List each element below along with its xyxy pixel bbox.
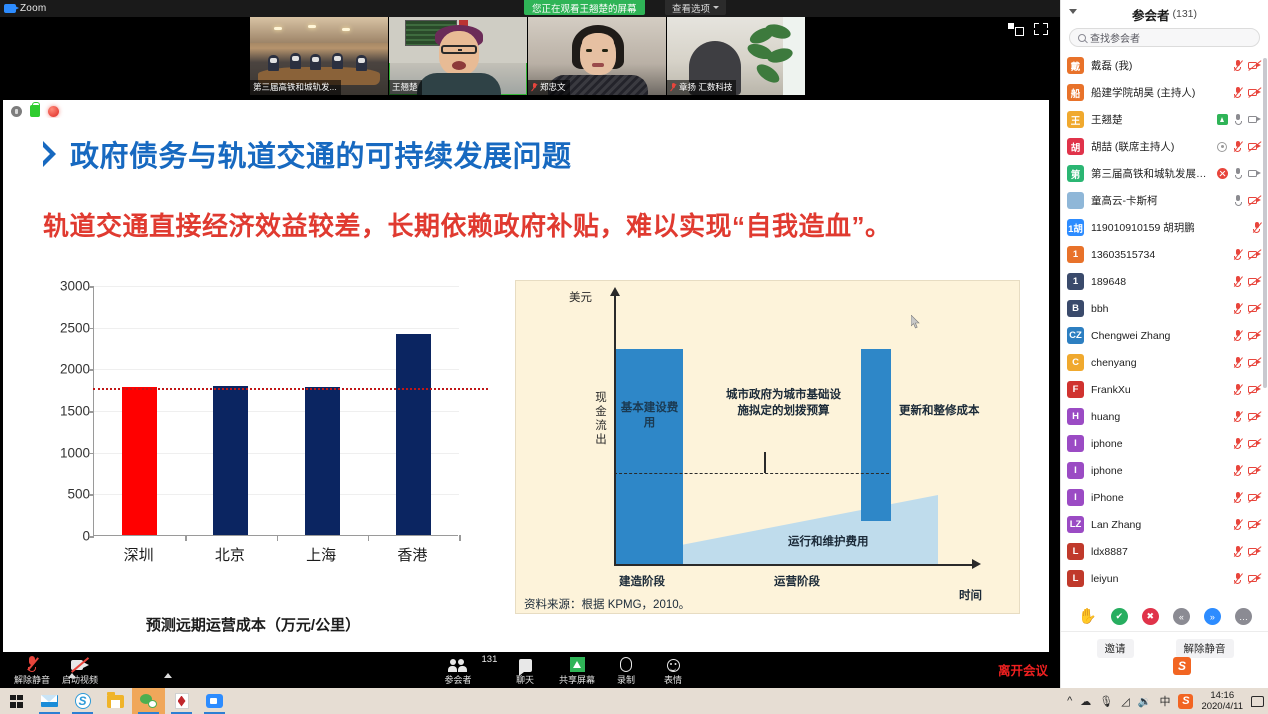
gridline (94, 286, 459, 287)
double-chevron-right-icon (43, 141, 56, 167)
taskbar-apps: S (0, 688, 231, 714)
budget-dashed-line (614, 473, 889, 474)
clock-date: 2020/4/11 (1201, 701, 1243, 712)
cashflow-diagram: 美元 现金流出 基本建设费用 运行和维护费用 更新和整修成本 城市政府为城市基础… (515, 280, 1020, 614)
reactions-label: 表情 (664, 673, 682, 686)
bar-chart-title: 预测远期运营成本（万元/公里） (33, 614, 473, 635)
participant-row[interactable]: Cchenyang (1061, 349, 1268, 376)
chat-bubble-icon (519, 655, 532, 672)
mic-off-icon[interactable] (1233, 303, 1242, 314)
threshold-dotted-line (93, 388, 488, 390)
x-axis-tick-label: 上海 (306, 544, 336, 565)
participant-name: 胡喆 (联席主持人) (1091, 139, 1217, 154)
y-axis-tick-label: 500 (67, 487, 90, 502)
mic-off-icon[interactable] (1233, 492, 1242, 503)
person-silhouette (356, 55, 367, 71)
participant-status-icons (1233, 438, 1261, 449)
share-screen-icon (570, 655, 585, 672)
y-axis-tick-label: 1000 (60, 445, 90, 460)
video-view-controls (1008, 22, 1048, 36)
people-icon: 131 (449, 655, 468, 672)
participant-row[interactable]: 1189648 (1061, 268, 1268, 295)
participant-name: 189648 (1091, 276, 1233, 288)
cloud-icon[interactable]: ☁ (1080, 695, 1091, 708)
slide-title-row: 政府债务与轨道交通的可持续发展问题 (43, 133, 572, 175)
person-silhouette (290, 53, 301, 69)
x-axis-tick-mark (459, 535, 461, 541)
video-tile-wang-qiaochu[interactable]: 王翘楚 (389, 17, 527, 95)
start-video-button[interactable]: 启动视频 (52, 655, 108, 686)
participants-scrollbar[interactable] (1263, 58, 1267, 388)
participant-name: Lan Zhang (1091, 519, 1233, 531)
diagram-x-axis (614, 564, 974, 566)
bar (122, 387, 157, 535)
plant-leaf (754, 61, 783, 87)
video-options-chevron-icon[interactable] (164, 673, 172, 678)
wechat-icon[interactable] (132, 688, 165, 714)
participant-row[interactable]: IiPhone (1061, 484, 1268, 511)
participant-status-icons (1233, 357, 1261, 368)
participants-panel-header: 参会者 (131) (1061, 0, 1268, 28)
y-axis-tick-mark (89, 494, 94, 496)
participant-name: leiyun (1091, 573, 1233, 585)
chevron-down-icon[interactable] (1069, 9, 1077, 14)
operating-maintenance-area (683, 495, 938, 564)
torso (417, 73, 501, 95)
potted-plant (745, 23, 799, 95)
participant-name: bbh (1091, 303, 1233, 315)
participant-status-icons (1233, 546, 1261, 557)
avatar: 1 (1067, 273, 1084, 290)
camera-off-icon[interactable] (1248, 412, 1261, 422)
avatar (1067, 192, 1084, 209)
bar-chart-operating-cost: 050010001500200025003000 深圳北京上海香港 预测远期运营… (33, 278, 473, 638)
budget-annotation-label: 城市政府为城市基础设施拟定的划拨预算 (721, 387, 846, 419)
participant-name: 119010910159 胡玥鹏 (1091, 220, 1252, 235)
screen-share-badge-icon (1217, 114, 1228, 125)
slide-subtitle: 轨道交通直接经济效益较差，长期依赖政府补贴，难以实现“自我造血”。 (43, 206, 892, 243)
chevron-up-icon[interactable]: ^ (1067, 695, 1072, 707)
reactions-button[interactable]: 表情 (645, 655, 701, 686)
search-input[interactable]: 查找参会者 (1069, 28, 1260, 47)
camera-off-icon[interactable] (1248, 574, 1261, 584)
avatar: 1 (1067, 246, 1084, 263)
y-axis-tick-mark (89, 411, 94, 413)
mouth (592, 63, 604, 67)
video-tile-name: 章扬 汇数科技 (667, 80, 736, 95)
renewal-refurbishment-bar (861, 349, 891, 521)
mic-on-icon[interactable] (1234, 114, 1242, 125)
avatar: 戴 (1067, 57, 1084, 74)
participant-status-icons (1233, 249, 1261, 260)
mic-off-icon[interactable] (1233, 357, 1242, 368)
sogou-ime-icon[interactable]: S (1178, 694, 1193, 709)
avatar: I (1067, 489, 1084, 506)
budget-pointer-tick (764, 452, 766, 473)
participant-name: 童高云-卡斯柯 (1091, 193, 1234, 208)
operation-phase-label: 运营阶段 (774, 573, 820, 589)
mic-off-icon (27, 655, 38, 672)
camera-off-icon[interactable] (1248, 547, 1261, 557)
avatar: LZ (1067, 516, 1084, 533)
participants-panel-title: 参会者 (1132, 5, 1170, 24)
participant-row[interactable]: CZChengwei Zhang (1061, 322, 1268, 349)
glasses-icon (441, 45, 477, 54)
participant-name: 王翘楚 (392, 81, 418, 93)
y-axis-tick-label: 1500 (60, 404, 90, 419)
camera-off-icon[interactable] (1248, 61, 1261, 71)
participant-status-icons (1233, 60, 1261, 71)
renewal-refurbishment-label: 更新和整修成本 (899, 402, 980, 418)
x-axis-tick-mark (368, 535, 370, 541)
share-status-indicators (11, 105, 59, 117)
start-video-label: 启动视频 (62, 673, 98, 686)
participant-status-icons (1233, 384, 1261, 395)
camera-on-icon[interactable] (1248, 115, 1261, 125)
windows-start-icon[interactable] (0, 688, 33, 714)
participant-name: 王翘楚 (1091, 112, 1217, 127)
avatar: L (1067, 543, 1084, 560)
mic-on-icon[interactable] (1234, 168, 1242, 179)
participant-name: 戴磊 (我) (1091, 58, 1233, 73)
x-axis-tick-label: 深圳 (124, 544, 154, 565)
mouth (452, 61, 466, 70)
mic-off-icon[interactable] (1233, 465, 1242, 476)
zoom-meeting-toolbar: 解除静音 启动视频 131 参会者 聊天 共享屏幕 录制 (0, 652, 1060, 688)
camera-off-icon[interactable] (1248, 331, 1261, 341)
participant-name: chenyang (1091, 357, 1233, 369)
participant-row[interactable]: 胡胡喆 (联席主持人) (1061, 133, 1268, 160)
unmute-label: 解除静音 (14, 673, 50, 686)
bar-chart-plot-area: 050010001500200025003000 (93, 286, 458, 536)
sogou-ime-indicator: S (1173, 657, 1191, 675)
avatar: 1胡 (1067, 219, 1084, 236)
participant-row[interactable]: 童高云-卡斯柯 (1061, 187, 1268, 214)
video-tile-name: 王翘楚 (389, 80, 422, 95)
plant-leaf (766, 46, 794, 65)
mic-on-icon[interactable] (1234, 195, 1242, 206)
camera-off-icon[interactable] (1248, 385, 1261, 395)
participant-status-icons (1217, 168, 1261, 179)
stop-share-icon[interactable] (48, 106, 59, 117)
participant-row[interactable]: 船船建学院胡昊 (主持人) (1061, 79, 1268, 106)
ceiling-light-icon (274, 27, 282, 30)
avatar: C (1067, 354, 1084, 371)
mic-off-icon[interactable] (1233, 411, 1242, 422)
zoom-icon[interactable] (198, 688, 231, 714)
zoom-meeting-window: Zoom 您正在观看王翘楚的屏幕 查看选项 第三届高铁和城轨发... (0, 0, 1060, 688)
viewing-screen-banner: 您正在观看王翘楚的屏幕 (524, 0, 645, 15)
shared-screen-area: 政府债务与轨道交通的可持续发展问题 轨道交通直接经济效益较差，长期依赖政府补贴，… (3, 100, 1049, 652)
participant-status-icons (1233, 411, 1261, 422)
camera-off-icon[interactable] (1248, 358, 1261, 368)
participant-name: iphone (1091, 465, 1233, 477)
participants-panel-count: (131) (1173, 8, 1198, 20)
mic-off-icon[interactable] (1233, 438, 1242, 449)
mic-off-icon[interactable] (1233, 141, 1242, 152)
avatar: I (1067, 435, 1084, 452)
video-tile-zheng-zhongwen[interactable]: 郑忠文 (528, 17, 666, 95)
camera-off-icon[interactable] (1248, 277, 1261, 287)
y-axis-tick-mark (89, 453, 94, 455)
participant-status-icons (1233, 87, 1261, 98)
participant-name: 第三届高铁和城轨发... (253, 81, 337, 93)
avatar: 胡 (1067, 138, 1084, 155)
video-tile-name: 第三届高铁和城轨发... (250, 80, 341, 95)
avatar: 船 (1067, 84, 1084, 101)
gridline (94, 328, 459, 329)
participant-row[interactable]: Iiphone (1061, 430, 1268, 457)
camera-off-icon[interactable] (1248, 142, 1261, 152)
page-title: 政府债务与轨道交通的可持续发展问题 (70, 133, 572, 175)
person-silhouette (310, 54, 321, 70)
unmute-all-button[interactable]: 解除静音 (1176, 639, 1234, 658)
x-axis-arrow-icon (972, 559, 981, 569)
video-tile-conference-room[interactable]: 第三届高铁和城轨发... (250, 17, 388, 95)
camera-off-icon (71, 655, 89, 672)
participant-status-icons (1233, 465, 1261, 476)
participant-status-icons (1233, 330, 1261, 341)
participant-status-icons (1252, 222, 1261, 233)
mic-off-icon[interactable] (1233, 384, 1242, 395)
participant-row[interactable]: 1胡119010910159 胡玥鹏 (1061, 214, 1268, 241)
participants-panel: 参会者 (131) 查找参会者 戴戴磊 (我)船船建学院胡昊 (主持人)王王翘楚… (1060, 0, 1268, 688)
camera-off-icon[interactable] (1248, 466, 1261, 476)
camera-off-icon[interactable] (1248, 250, 1261, 260)
ime-chinese-icon[interactable]: 中 (1159, 693, 1170, 709)
search-placeholder: 查找参会者 (1090, 30, 1140, 45)
windows-taskbar: S ^ ☁ 🎙 ◿ 🔉 中 S 14:16 2020/4/11 (0, 688, 1268, 714)
participant-row[interactable]: Hhuang (1061, 403, 1268, 430)
avatar: I (1067, 462, 1084, 479)
view-options-dropdown[interactable]: 查看选项 (665, 0, 726, 15)
bar (213, 386, 248, 535)
mic-off-icon[interactable] (1233, 276, 1242, 287)
participants-count: 131 (482, 654, 498, 665)
participant-name: FrankXu (1091, 384, 1233, 396)
clock[interactable]: 14:16 2020/4/11 (1201, 690, 1243, 712)
y-axis-tick-mark (89, 536, 94, 538)
search-icon (1078, 34, 1086, 42)
sogou-browser-icon[interactable]: S (66, 688, 99, 714)
participant-name: ldx8887 (1091, 546, 1233, 558)
mic-off-icon (531, 83, 538, 92)
avatar: CZ (1067, 327, 1084, 344)
participant-row[interactable]: 第第三届高铁和城轨发展… (1061, 160, 1268, 187)
diagram-y-axis-label: 现金流出 (594, 391, 608, 447)
record-dot-icon[interactable] (11, 106, 22, 117)
reactions-bar: ✋✔✖«»… (1061, 602, 1268, 632)
mic-off-icon[interactable] (1233, 330, 1242, 341)
avatar: L (1067, 570, 1084, 587)
person-silhouette (332, 53, 343, 69)
participant-name: 章扬 汇数科技 (679, 81, 732, 93)
x-axis-tick-label: 北京 (215, 544, 245, 565)
capital-construction-bar (616, 349, 683, 564)
participants-action-buttons: 邀请 解除静音 (1061, 634, 1268, 662)
clock-time: 14:16 (1210, 690, 1234, 701)
cross-no-icon[interactable]: ✖ (1142, 608, 1159, 625)
raise-hand-icon[interactable]: ✋ (1078, 609, 1097, 624)
camera-off-icon[interactable] (1248, 493, 1261, 503)
mic-off-icon[interactable] (1233, 519, 1242, 530)
record-label: 录制 (617, 673, 635, 686)
mic-off-icon[interactable] (1233, 249, 1242, 260)
participant-status-icons (1233, 573, 1261, 584)
more-icon[interactable]: … (1235, 608, 1252, 625)
x-axis-tick-label: 香港 (397, 544, 427, 565)
diagram-source-note: 资料来源：根据 KPMG，2010。 (524, 596, 690, 612)
mail-icon[interactable] (33, 688, 66, 714)
view-options-label: 查看选项 (672, 1, 710, 15)
video-tile-zhangyang[interactable]: 章扬 汇数科技 (667, 17, 805, 95)
zoom-app-name: Zoom (20, 3, 46, 14)
bar (305, 387, 340, 535)
mic-off-icon[interactable] (1233, 573, 1242, 584)
participant-status-icons (1217, 141, 1261, 152)
ceiling-light-icon (308, 25, 316, 28)
operating-maintenance-label: 运行和维护费用 (788, 533, 869, 549)
participant-name: 第三届高铁和城轨发展… (1091, 166, 1217, 181)
mic-off-icon[interactable] (1252, 222, 1261, 233)
video-tile-name: 郑忠文 (528, 80, 570, 95)
mouse-cursor (911, 315, 920, 329)
participant-row[interactable]: Bbbh (1061, 295, 1268, 322)
mic-off-icon (670, 83, 677, 92)
faster-icon[interactable]: » (1204, 608, 1221, 625)
y-axis-tick-mark (89, 286, 94, 288)
zoom-logo: Zoom (0, 3, 46, 14)
camera-off-icon[interactable] (1248, 196, 1261, 206)
participant-status-icons (1233, 303, 1261, 314)
recording-badge-icon (1217, 142, 1227, 152)
mic-off-icon[interactable] (1233, 60, 1242, 71)
construction-phase-label: 建造阶段 (619, 573, 665, 589)
participant-row[interactable]: LZLan Zhang (1061, 511, 1268, 538)
avatar: 王 (1067, 111, 1084, 128)
participant-row[interactable]: 戴戴磊 (我) (1061, 52, 1268, 79)
participants-button[interactable]: 131 参会者 (430, 655, 486, 686)
participant-status-icons (1233, 276, 1261, 287)
participant-name: 船建学院胡昊 (主持人) (1091, 85, 1233, 100)
mic-off-icon[interactable] (1233, 546, 1242, 557)
y-axis-tick-mark (89, 369, 94, 371)
participant-name: huang (1091, 411, 1233, 423)
share-screen-button[interactable]: 共享屏幕 (549, 655, 605, 686)
diagram-x-axis-label: 时间 (959, 587, 982, 603)
room-ceiling (250, 17, 388, 43)
x-axis-tick-mark (277, 535, 279, 541)
ceiling-light-icon (342, 28, 350, 31)
invite-button[interactable]: 邀请 (1097, 639, 1134, 658)
participant-status-icons (1233, 492, 1261, 503)
participant-row[interactable]: Lleiyun (1061, 565, 1268, 592)
record-icon (620, 655, 632, 672)
avatar: H (1067, 408, 1084, 425)
lock-icon[interactable] (30, 105, 40, 117)
avatar: B (1067, 300, 1084, 317)
slower-icon[interactable]: « (1173, 608, 1190, 625)
wifi-icon[interactable]: ◿ (1121, 695, 1129, 708)
participant-status-icons (1234, 195, 1261, 206)
participant-name: iPhone (1091, 492, 1233, 504)
camera-off-icon[interactable] (1248, 304, 1261, 314)
acrobat-reader-icon[interactable] (165, 688, 198, 714)
participant-name: 郑忠文 (540, 81, 566, 93)
participant-status-icons (1217, 114, 1261, 125)
participant-row[interactable]: 113603515734 (1061, 241, 1268, 268)
fullscreen-icon[interactable] (1034, 22, 1048, 36)
x-axis-tick-mark (185, 535, 187, 541)
capital-construction-label: 基本建设费用 (616, 401, 683, 431)
avatar: 第 (1067, 165, 1084, 182)
camera-on-icon[interactable] (1248, 169, 1261, 179)
camera-off-icon[interactable] (1248, 88, 1261, 98)
camera-off-icon[interactable] (1248, 520, 1261, 530)
microphone-icon[interactable]: 🎙 (1099, 695, 1113, 708)
y-axis-tick-label: 2500 (60, 320, 90, 335)
chevron-down-icon (713, 6, 719, 9)
eye (586, 49, 592, 52)
bar (396, 334, 431, 535)
stop-share-badge-icon (1217, 168, 1228, 179)
participant-name: 13603515734 (1091, 249, 1233, 261)
eye (602, 49, 608, 52)
participant-row[interactable]: 王王翘楚 (1061, 106, 1268, 133)
participant-row[interactable]: Iiphone (1061, 457, 1268, 484)
chat-button[interactable]: 聊天 (497, 655, 553, 686)
presentation-slide: 政府债务与轨道交通的可持续发展问题 轨道交通直接经济效益较差，长期依赖政府补贴，… (3, 118, 1049, 652)
y-axis-tick-mark (89, 328, 94, 330)
mic-off-icon[interactable] (1233, 87, 1242, 98)
reactions-icon (667, 655, 680, 672)
file-explorer-icon[interactable] (99, 688, 132, 714)
participant-name: iphone (1091, 438, 1233, 450)
y-axis-tick-label: 2000 (60, 362, 90, 377)
participants-label: 参会者 (444, 673, 471, 686)
check-yes-icon[interactable]: ✔ (1111, 608, 1128, 625)
participants-list[interactable]: 戴戴磊 (我)船船建学院胡昊 (主持人)王王翘楚胡胡喆 (联席主持人)第第三届高… (1061, 52, 1268, 600)
person-silhouette (268, 55, 279, 71)
avatar: F (1067, 381, 1084, 398)
y-axis-tick-label: 3000 (60, 279, 90, 294)
video-filmstrip: 第三届高铁和城轨发... 王翘楚 郑忠文 (250, 17, 805, 95)
system-tray: ^ ☁ 🎙 ◿ 🔉 中 S 14:16 2020/4/11 (1067, 688, 1264, 714)
leave-meeting-button[interactable]: 离开会议 (998, 660, 1048, 679)
share-screen-label: 共享屏幕 (559, 673, 595, 686)
participant-status-icons (1233, 519, 1261, 530)
participant-row[interactable]: Lldx8887 (1061, 538, 1268, 565)
diagram-y-unit-label: 美元 (569, 289, 592, 305)
participants-search-wrap: 查找参会者 (1061, 28, 1268, 47)
viewing-screen-text: 您正在观看王翘楚的屏幕 (532, 1, 637, 15)
volume-icon[interactable]: 🔉 (1138, 695, 1152, 708)
gallery-view-icon[interactable] (1008, 22, 1022, 36)
notification-icon[interactable] (1251, 696, 1264, 707)
zoom-camera-icon (4, 4, 16, 13)
camera-off-icon[interactable] (1248, 439, 1261, 449)
participant-name: Chengwei Zhang (1091, 330, 1233, 342)
participant-row[interactable]: FFrankXu (1061, 376, 1268, 403)
